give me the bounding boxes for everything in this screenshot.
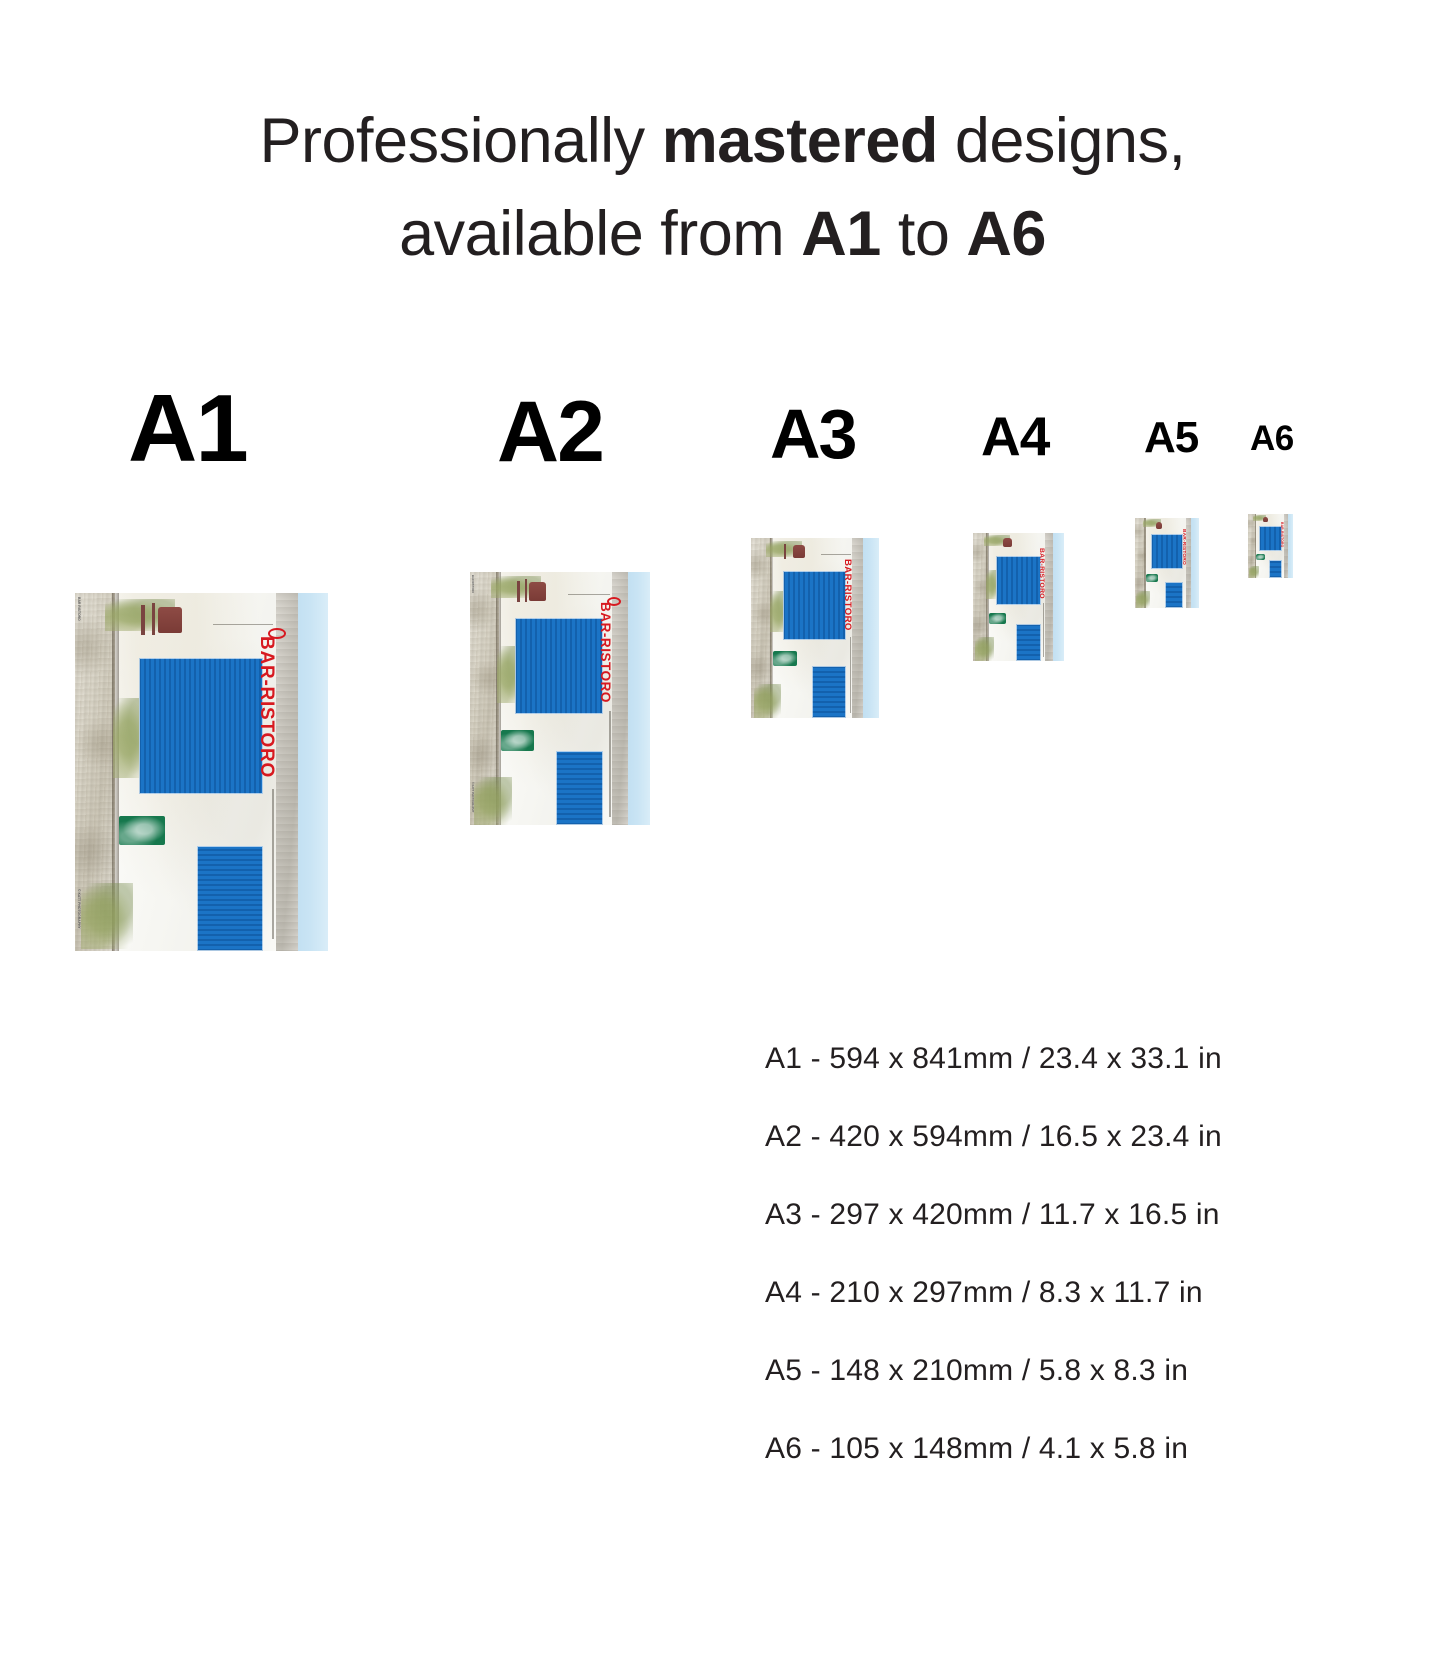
dimension-row-a5: A5 - 148 x 210mm / 5.8 x 8.3 in bbox=[765, 1332, 1222, 1410]
small-blue-shutter bbox=[1269, 560, 1282, 578]
overhead-wire bbox=[213, 624, 273, 625]
bar-ristoro-sign: BAR-RISTORO bbox=[255, 636, 277, 778]
size-label-a1: A1 bbox=[128, 381, 247, 477]
poster-thumbnail-a3[interactable]: BAR-RISTORO bbox=[751, 538, 879, 718]
poster-thumbnail-a6[interactable]: BAR-RISTORO bbox=[1248, 514, 1293, 578]
green-barrel bbox=[501, 730, 534, 751]
drain-pipe bbox=[850, 637, 851, 713]
size-label-a5: A5 bbox=[1144, 416, 1198, 460]
poster-artwork: BAR-RISTORO BAR RISTORO © KATT PHOTOGRAP… bbox=[75, 593, 328, 951]
poster-micro-caption-top: BAR RISTORO bbox=[471, 575, 474, 593]
large-blue-shutter bbox=[1151, 534, 1183, 569]
poster-artwork: BAR-RISTORO BAR RISTORO © KATT PHOTOGRAP… bbox=[470, 572, 650, 825]
drain-pipe bbox=[609, 711, 611, 817]
poster-artwork: BAR-RISTORO bbox=[973, 533, 1064, 661]
small-blue-shutter bbox=[197, 846, 263, 951]
poster-micro-caption-bottom: © KATT PHOTOGRAPHY bbox=[471, 782, 474, 812]
chair-leg bbox=[784, 544, 786, 559]
poster-micro-caption-bottom: © KATT PHOTOGRAPHY bbox=[77, 889, 81, 929]
stone-pillar bbox=[1045, 533, 1053, 661]
red-chair bbox=[1003, 538, 1012, 547]
green-barrel bbox=[119, 816, 165, 845]
dimension-row-a1: A1 - 594 x 841mm / 23.4 x 33.1 in bbox=[765, 1020, 1222, 1098]
size-label-a2: A2 bbox=[497, 389, 603, 475]
stone-pillar bbox=[276, 593, 298, 951]
stone-pillar bbox=[1186, 518, 1191, 608]
large-blue-shutter bbox=[783, 571, 846, 640]
green-barrel bbox=[989, 613, 1006, 624]
poster-artwork: BAR-RISTORO bbox=[1248, 514, 1293, 578]
chair-leg bbox=[141, 605, 145, 635]
bar-ristoro-sign: BAR-RISTORO bbox=[1280, 522, 1284, 547]
foliage bbox=[754, 684, 781, 718]
red-chair bbox=[1156, 522, 1162, 529]
large-blue-shutter bbox=[515, 618, 603, 714]
poster-thumbnail-a2[interactable]: BAR-RISTORO BAR RISTORO © KATT PHOTOGRAP… bbox=[470, 572, 650, 825]
dimension-list: A1 - 594 x 841mm / 23.4 x 33.1 in A2 - 4… bbox=[765, 1020, 1222, 1488]
large-blue-shutter bbox=[139, 658, 263, 794]
stone-pillar bbox=[1284, 514, 1288, 578]
size-label-a4: A4 bbox=[981, 409, 1049, 464]
green-barrel bbox=[1146, 574, 1158, 582]
foliage bbox=[474, 777, 512, 825]
chair-leg bbox=[525, 579, 527, 602]
green-barrel bbox=[1256, 554, 1265, 560]
bar-ristoro-sign: BAR-RISTORO bbox=[598, 602, 613, 703]
small-blue-shutter bbox=[812, 666, 846, 718]
green-barrel bbox=[773, 651, 797, 666]
bar-ristoro-sign: BAR-RISTORO bbox=[1181, 529, 1186, 565]
poster-micro-caption-top: BAR RISTORO bbox=[77, 597, 81, 621]
large-blue-shutter bbox=[1259, 526, 1282, 551]
foliage bbox=[81, 883, 133, 949]
foliage bbox=[975, 637, 994, 661]
bar-ristoro-sign: BAR-RISTORO bbox=[1038, 548, 1045, 599]
poster-artwork: BAR-RISTORO bbox=[1135, 518, 1199, 608]
chair-leg bbox=[152, 603, 155, 635]
red-chair bbox=[158, 607, 182, 633]
poster-thumbnail-a5[interactable]: BAR-RISTORO bbox=[1135, 518, 1199, 608]
overhead-wire bbox=[568, 594, 610, 595]
overhead-wire bbox=[821, 554, 851, 555]
poster-thumbnail-a1[interactable]: BAR-RISTORO BAR RISTORO © KATT PHOTOGRAP… bbox=[75, 593, 328, 951]
drain-pipe bbox=[1043, 603, 1044, 657]
stone-pillar bbox=[852, 538, 863, 718]
dimension-row-a2: A2 - 420 x 594mm / 16.5 x 23.4 in bbox=[765, 1098, 1222, 1176]
small-blue-shutter bbox=[1165, 582, 1183, 608]
small-blue-shutter bbox=[556, 751, 603, 825]
dimension-row-a4: A4 - 210 x 297mm / 8.3 x 11.7 in bbox=[765, 1254, 1222, 1332]
red-chair bbox=[793, 545, 805, 558]
poster-size-guide-page: Professionally mastered designs, availab… bbox=[0, 0, 1445, 1680]
small-blue-shutter bbox=[1016, 624, 1041, 661]
bar-ristoro-sign: BAR-RISTORO bbox=[842, 559, 853, 631]
red-chair bbox=[529, 582, 546, 601]
drain-pipe bbox=[272, 789, 274, 939]
foliage bbox=[1249, 566, 1259, 578]
size-label-a3: A3 bbox=[770, 399, 855, 469]
stone-pillar bbox=[612, 572, 628, 825]
red-chair bbox=[1263, 517, 1268, 522]
dimension-row-a6: A6 - 105 x 148mm / 4.1 x 5.8 in bbox=[765, 1410, 1222, 1488]
poster-thumbnail-a4[interactable]: BAR-RISTORO bbox=[973, 533, 1064, 661]
poster-artwork: BAR-RISTORO bbox=[751, 538, 879, 718]
dimension-row-a3: A3 - 297 x 420mm / 11.7 x 16.5 in bbox=[765, 1176, 1222, 1254]
foliage bbox=[1136, 591, 1150, 608]
large-blue-shutter bbox=[996, 556, 1041, 605]
size-label-a6: A6 bbox=[1250, 421, 1294, 456]
chair-leg bbox=[517, 581, 520, 602]
